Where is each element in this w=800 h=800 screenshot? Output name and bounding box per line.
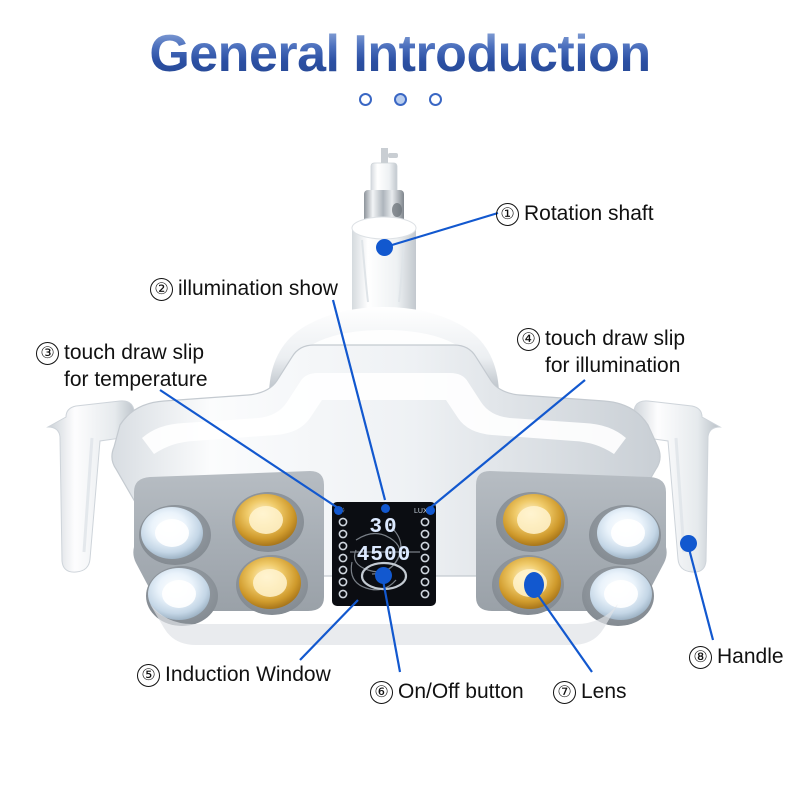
callout-text-6: On/Off button xyxy=(398,680,524,703)
callout-lens: ⑦Lens xyxy=(553,678,627,705)
callout-number-7: ⑦ xyxy=(553,681,576,704)
callout-number-4: ④ xyxy=(517,328,540,351)
leader-6 xyxy=(383,580,400,672)
callout-handle: ⑧Handle xyxy=(689,643,784,670)
callout-number-8: ⑧ xyxy=(689,646,712,669)
callout-touch-temperature: ③touch draw slip for temperature xyxy=(36,339,208,393)
callout-number-1: ① xyxy=(496,203,519,226)
callout-text-2: illumination show xyxy=(178,277,338,300)
callout-rotation-shaft: ①Rotation shaft xyxy=(496,200,654,227)
callout-number-6: ⑥ xyxy=(370,681,393,704)
callout-illumination-show: ②illumination show xyxy=(150,275,338,302)
leader-4 xyxy=(430,380,585,508)
callout-number-2: ② xyxy=(150,278,173,301)
callout-number-5: ⑤ xyxy=(137,664,160,687)
callout-number-3: ③ xyxy=(36,342,59,365)
callout-text-1: Rotation shaft xyxy=(524,202,654,225)
leader-2 xyxy=(333,300,385,500)
marker-on-off-button xyxy=(375,567,392,584)
marker-touch-illumination xyxy=(426,506,435,515)
leader-3 xyxy=(160,390,338,508)
marker-touch-temperature xyxy=(334,506,343,515)
marker-illumination-show xyxy=(381,504,390,513)
leader-8 xyxy=(688,545,713,640)
callout-text-3-line2: for temperature xyxy=(36,366,208,393)
callout-text-4-line2: for illumination xyxy=(517,352,685,379)
callout-text-3: touch draw slip xyxy=(64,341,204,364)
callout-text-4: touch draw slip xyxy=(545,327,685,350)
callout-on-off-button: ⑥On/Off button xyxy=(370,678,524,705)
callout-text-7: Lens xyxy=(581,680,627,703)
callout-induction-window: ⑤Induction Window xyxy=(137,661,331,688)
callout-text-5: Induction Window xyxy=(165,663,331,686)
leader-7 xyxy=(533,588,592,672)
slide-canvas: General Introduction xyxy=(0,0,800,800)
marker-lens xyxy=(524,572,544,598)
callout-text-8: Handle xyxy=(717,645,784,668)
marker-rotation-shaft xyxy=(376,239,393,256)
leader-5 xyxy=(300,600,358,660)
leader-1 xyxy=(392,213,498,245)
marker-handle xyxy=(680,535,697,552)
callout-touch-illumination: ④touch draw slip for illumination xyxy=(517,325,685,379)
